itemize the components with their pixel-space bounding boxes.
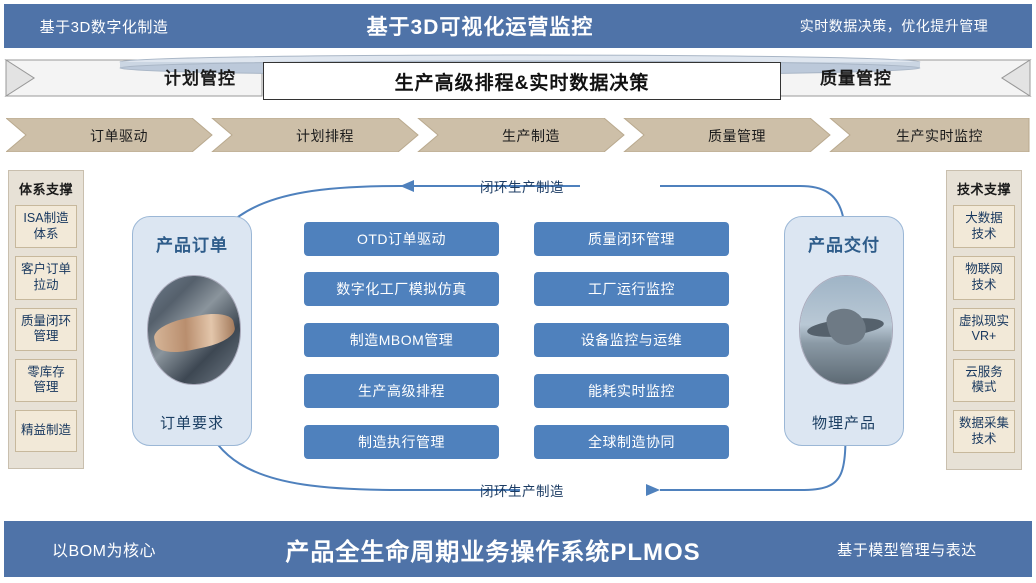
quality-control-label: 质量管控 — [786, 64, 926, 89]
header-band: 基于3D数字化制造 基于3D可视化运营监控 实时数据决策，优化提升管理 — [4, 4, 1032, 48]
left-panel-item-2: 客户订单 拉动 — [15, 256, 77, 299]
capability-a-1[interactable]: OTD订单驱动 — [304, 222, 499, 256]
left-panel-item-1: ISA制造 体系 — [15, 205, 77, 248]
plan-control-label: 计划管控 — [130, 64, 270, 89]
product-delivery-title: 产品交付 — [785, 231, 903, 256]
process-step-4: 质量管理 — [644, 126, 830, 146]
loop-label-bottom: 闭环生产制造 — [480, 480, 564, 500]
footer-band: 以BOM为核心 产品全生命周期业务操作系统PLMOS 基于模型管理与表达 — [4, 521, 1032, 577]
control-band: 计划管控 质量管控 生产高级排程&实时数据决策 — [0, 54, 1036, 102]
process-step-3: 生产制造 — [438, 126, 624, 146]
process-step-5: 生产实时监控 — [850, 126, 1029, 146]
handshake-photo — [147, 275, 241, 385]
closed-loop-diagram: 闭环生产制造 闭环生产制造 产品订单 订单要求 产品交付 物理产品 OTD订单驱… — [100, 168, 936, 508]
capability-a-5[interactable]: 制造执行管理 — [304, 425, 499, 459]
product-order-card: 产品订单 订单要求 — [132, 216, 252, 446]
footer-title: 产品全生命周期业务操作系统PLMOS — [204, 532, 782, 567]
capability-a-4[interactable]: 生产高级排程 — [304, 374, 499, 408]
loop-label-top: 闭环生产制造 — [480, 176, 564, 196]
capability-b-1[interactable]: 质量闭环管理 — [534, 222, 729, 256]
footer-right-text: 基于模型管理与表达 — [782, 539, 1032, 560]
header-right-text: 实时数据决策，优化提升管理 — [756, 16, 1032, 36]
header-left-text: 基于3D数字化制造 — [4, 16, 204, 37]
right-panel-item-4: 云服务 模式 — [953, 359, 1015, 402]
process-chevron-row: 订单驱动 计划排程 生产制造 质量管理 生产实时监控 — [6, 118, 1030, 152]
product-order-footer: 订单要求 — [133, 412, 251, 433]
right-panel-item-3: 虚拟现实 VR+ — [953, 308, 1015, 351]
left-panel-item-5: 精益制造 — [15, 410, 77, 452]
header-title: 基于3D可视化运营监控 — [204, 11, 756, 41]
fighter-jet-photo — [799, 275, 893, 385]
capability-a-2[interactable]: 数字化工厂模拟仿真 — [304, 272, 499, 306]
left-panel-title: 体系支撑 — [13, 179, 79, 198]
right-support-panel: 技术支撑 大数据 技术 物联网 技术 虚拟现实 VR+ 云服务 模式 数据采集 … — [946, 170, 1022, 470]
right-panel-item-2: 物联网 技术 — [953, 256, 1015, 299]
process-step-2: 计划排程 — [232, 126, 418, 146]
product-delivery-card: 产品交付 物理产品 — [784, 216, 904, 446]
center-highlight-box: 生产高级排程&实时数据决策 — [263, 62, 781, 100]
capability-b-4[interactable]: 能耗实时监控 — [534, 374, 729, 408]
diagram-canvas: 基于3D数字化制造 基于3D可视化运营监控 实时数据决策，优化提升管理 计划管控… — [0, 0, 1036, 583]
capability-b-5[interactable]: 全球制造协同 — [534, 425, 729, 459]
footer-left-text: 以BOM为核心 — [4, 537, 204, 561]
capability-a-3[interactable]: 制造MBOM管理 — [304, 323, 499, 357]
product-order-title: 产品订单 — [133, 231, 251, 256]
right-panel-title: 技术支撑 — [951, 179, 1017, 198]
product-delivery-footer: 物理产品 — [785, 412, 903, 433]
capability-b-3[interactable]: 设备监控与运维 — [534, 323, 729, 357]
capability-b-2[interactable]: 工厂运行监控 — [534, 272, 729, 306]
left-panel-item-4: 零库存 管理 — [15, 359, 77, 402]
process-step-1: 订单驱动 — [26, 126, 212, 146]
left-support-panel: 体系支撑 ISA制造 体系 客户订单 拉动 质量闭环 管理 零库存 管理 精益制… — [8, 170, 84, 469]
left-panel-item-3: 质量闭环 管理 — [15, 308, 77, 351]
right-panel-item-5: 数据采集 技术 — [953, 410, 1015, 453]
right-panel-item-1: 大数据 技术 — [953, 205, 1015, 248]
